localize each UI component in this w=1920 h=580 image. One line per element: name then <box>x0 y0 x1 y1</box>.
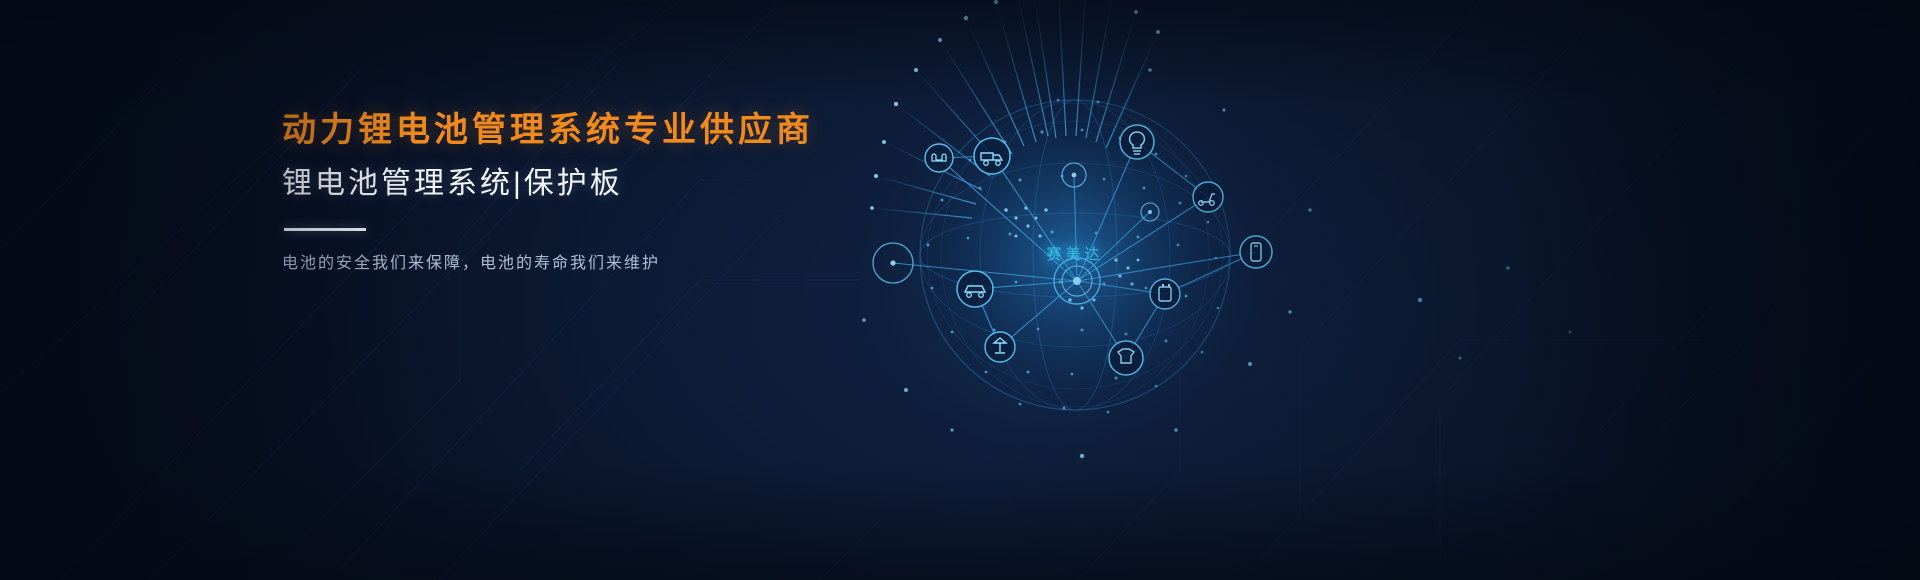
hero-subtitle: 锂电池管理系统|保护板 <box>282 166 1042 202</box>
hero-headline: 动力锂电池管理系统专业供应商 <box>282 110 1042 150</box>
network-globe-graphic <box>820 0 1440 580</box>
sparkle-field <box>1400 240 1800 440</box>
node-lightbulb <box>1120 125 1154 159</box>
node-car <box>957 271 993 307</box>
title-divider <box>284 228 366 231</box>
hero-copy: 动力锂电池管理系统专业供应商 锂电池管理系统|保护板 电池的安全我们来保障，电池… <box>282 110 1042 276</box>
node-phone <box>1240 236 1272 268</box>
node-shirt <box>1109 341 1143 375</box>
node-battery <box>1150 279 1180 309</box>
node-lamp <box>985 332 1015 362</box>
node-scooter <box>1193 182 1223 212</box>
hero-banner: 赛美达 动力锂电池管理系统专业供应商 锂电池管理系统|保护板 电池的安全我们来保… <box>0 0 1920 580</box>
node-hub <box>1054 258 1100 304</box>
hero-tagline: 电池的安全我们来保障，电池的寿命我们来维护 <box>282 253 1042 275</box>
